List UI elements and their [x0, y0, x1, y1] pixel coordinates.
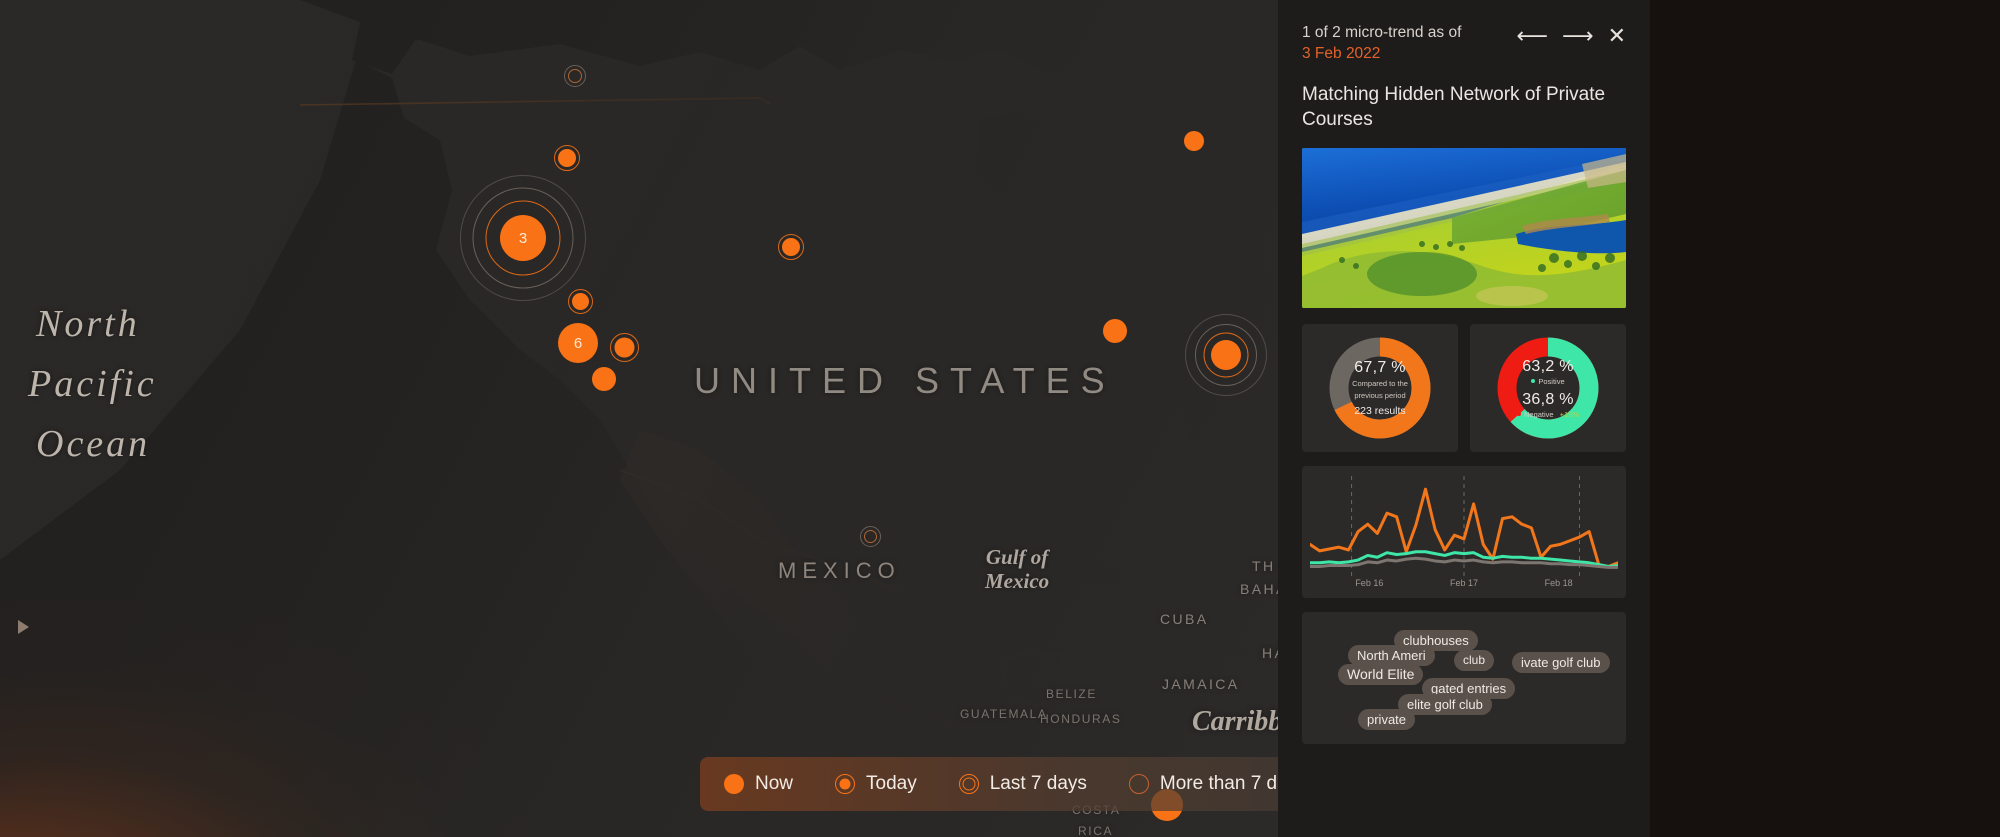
- map-canvas[interactable]: NorthPacificOceanUNITED STATESMEXICOGulf…: [0, 0, 1280, 837]
- panel-header: 1 of 2 micro-trend as of 3 Feb 2022 ⟵ ⟶ …: [1302, 22, 1626, 64]
- map-legend-bar[interactable]: NowTodayLast 7 daysMore than 7 days ag: [700, 757, 1280, 811]
- map-pan-arrow-icon[interactable]: [18, 620, 29, 634]
- panel-title: Matching Hidden Network of Private Cours…: [1302, 82, 1626, 132]
- chart-tick-label: Feb 18: [1545, 578, 1573, 588]
- chart-tick-label: Feb 16: [1355, 578, 1383, 588]
- metric-cards-row: 67,7 % Compared to the previous period 2…: [1302, 324, 1626, 452]
- map-bubble-montana[interactable]: [554, 145, 580, 171]
- close-icon[interactable]: ✕: [1608, 26, 1626, 48]
- map-bubble-seattle[interactable]: [564, 65, 586, 87]
- sentiment-donut-card[interactable]: 63,2 % Positive 36,8 % Negative +19%: [1470, 324, 1626, 452]
- volume-donut-svg: [1328, 336, 1432, 440]
- bubble-ring: [860, 526, 881, 547]
- panel-header-actions: ⟵ ⟶ ✕: [1516, 22, 1626, 48]
- legend-today[interactable]: Today: [835, 773, 917, 795]
- legend-label: Now: [755, 773, 793, 795]
- bubble-core[interactable]: [1103, 319, 1127, 343]
- volume-donut: 67,7 % Compared to the previous period 2…: [1328, 336, 1432, 440]
- map-bubble-texas[interactable]: [1103, 319, 1127, 343]
- micro-trend-detail-panel: 1 of 2 micro-trend as of 3 Feb 2022 ⟵ ⟶ …: [1278, 0, 1650, 837]
- bubble-core[interactable]: [1211, 340, 1241, 370]
- tag-cloud-item[interactable]: ivate golf club: [1512, 652, 1610, 673]
- legend-marker-icon: [835, 774, 855, 794]
- bubble-core[interactable]: 3: [500, 215, 546, 261]
- map-bubble-mexico-city[interactable]: [860, 526, 881, 547]
- bubble-core[interactable]: [614, 337, 634, 357]
- map-bubble-midwest[interactable]: [778, 234, 804, 260]
- map-bubble-arizona[interactable]: [610, 333, 639, 362]
- legend-label: More than 7 days ag: [1160, 773, 1280, 795]
- sentiment-donut: 63,2 % Positive 36,8 % Negative +19%: [1496, 336, 1600, 440]
- tag-cloud-item[interactable]: World Elite: [1338, 664, 1423, 685]
- bubble-core[interactable]: [1184, 131, 1204, 151]
- legend-last-7-days[interactable]: Last 7 days: [959, 773, 1087, 795]
- map-bubble-northeast[interactable]: [1184, 131, 1204, 151]
- next-arrow-icon[interactable]: ⟶: [1562, 26, 1594, 48]
- legend-label: Last 7 days: [990, 773, 1087, 795]
- tag-cloud-card[interactable]: clubhousesNorth Americlubivate golf club…: [1302, 612, 1626, 744]
- tag-cloud-item[interactable]: club: [1454, 650, 1494, 671]
- bubble-core[interactable]: 6: [558, 323, 598, 363]
- aerial-golf-course-photo: [1302, 148, 1626, 308]
- bubble-core[interactable]: [558, 149, 576, 167]
- legend-label: Today: [866, 773, 917, 795]
- trend-line-chart-card[interactable]: Feb 16Feb 17Feb 18: [1302, 466, 1626, 598]
- hero-image[interactable]: [1302, 148, 1626, 308]
- legend-marker-icon: [959, 774, 979, 794]
- app-root: NorthPacificOceanUNITED STATESMEXICOGulf…: [0, 0, 2000, 837]
- legend-now[interactable]: Now: [724, 773, 793, 795]
- sentiment-donut-svg: [1496, 336, 1600, 440]
- chart-tick-label: Feb 17: [1450, 578, 1478, 588]
- panel-meta: 1 of 2 micro-trend as of 3 Feb 2022: [1302, 22, 1461, 64]
- map-bubble-california-6[interactable]: 6: [558, 323, 598, 363]
- map-bubble-socal[interactable]: [592, 367, 616, 391]
- panel-counter: 1 of 2 micro-trend as of: [1302, 24, 1461, 41]
- trend-line-chart: [1310, 476, 1618, 576]
- tag-cloud-item[interactable]: North Ameri: [1348, 645, 1435, 666]
- map-bubble-florida[interactable]: [1185, 314, 1267, 396]
- bubble-ring: [564, 65, 586, 87]
- prev-arrow-icon[interactable]: ⟵: [1516, 26, 1548, 48]
- legend-marker-icon: [724, 774, 744, 794]
- panel-date: 3 Feb 2022: [1302, 45, 1380, 62]
- bubble-core[interactable]: [592, 367, 616, 391]
- chart-x-axis-ticks: Feb 16Feb 17Feb 18: [1310, 576, 1618, 588]
- map-bubble-nevada[interactable]: [568, 289, 593, 314]
- legend-marker-icon: [1129, 774, 1149, 794]
- map-landmass: [0, 0, 1280, 837]
- map-bubble-california-3[interactable]: 3: [460, 175, 586, 301]
- legend-more-than-7-days[interactable]: More than 7 days ag: [1129, 773, 1280, 795]
- volume-donut-card[interactable]: 67,7 % Compared to the previous period 2…: [1302, 324, 1458, 452]
- bubble-core[interactable]: [782, 238, 800, 256]
- tag-cloud-item[interactable]: private: [1358, 709, 1415, 730]
- bubble-core[interactable]: [572, 293, 589, 310]
